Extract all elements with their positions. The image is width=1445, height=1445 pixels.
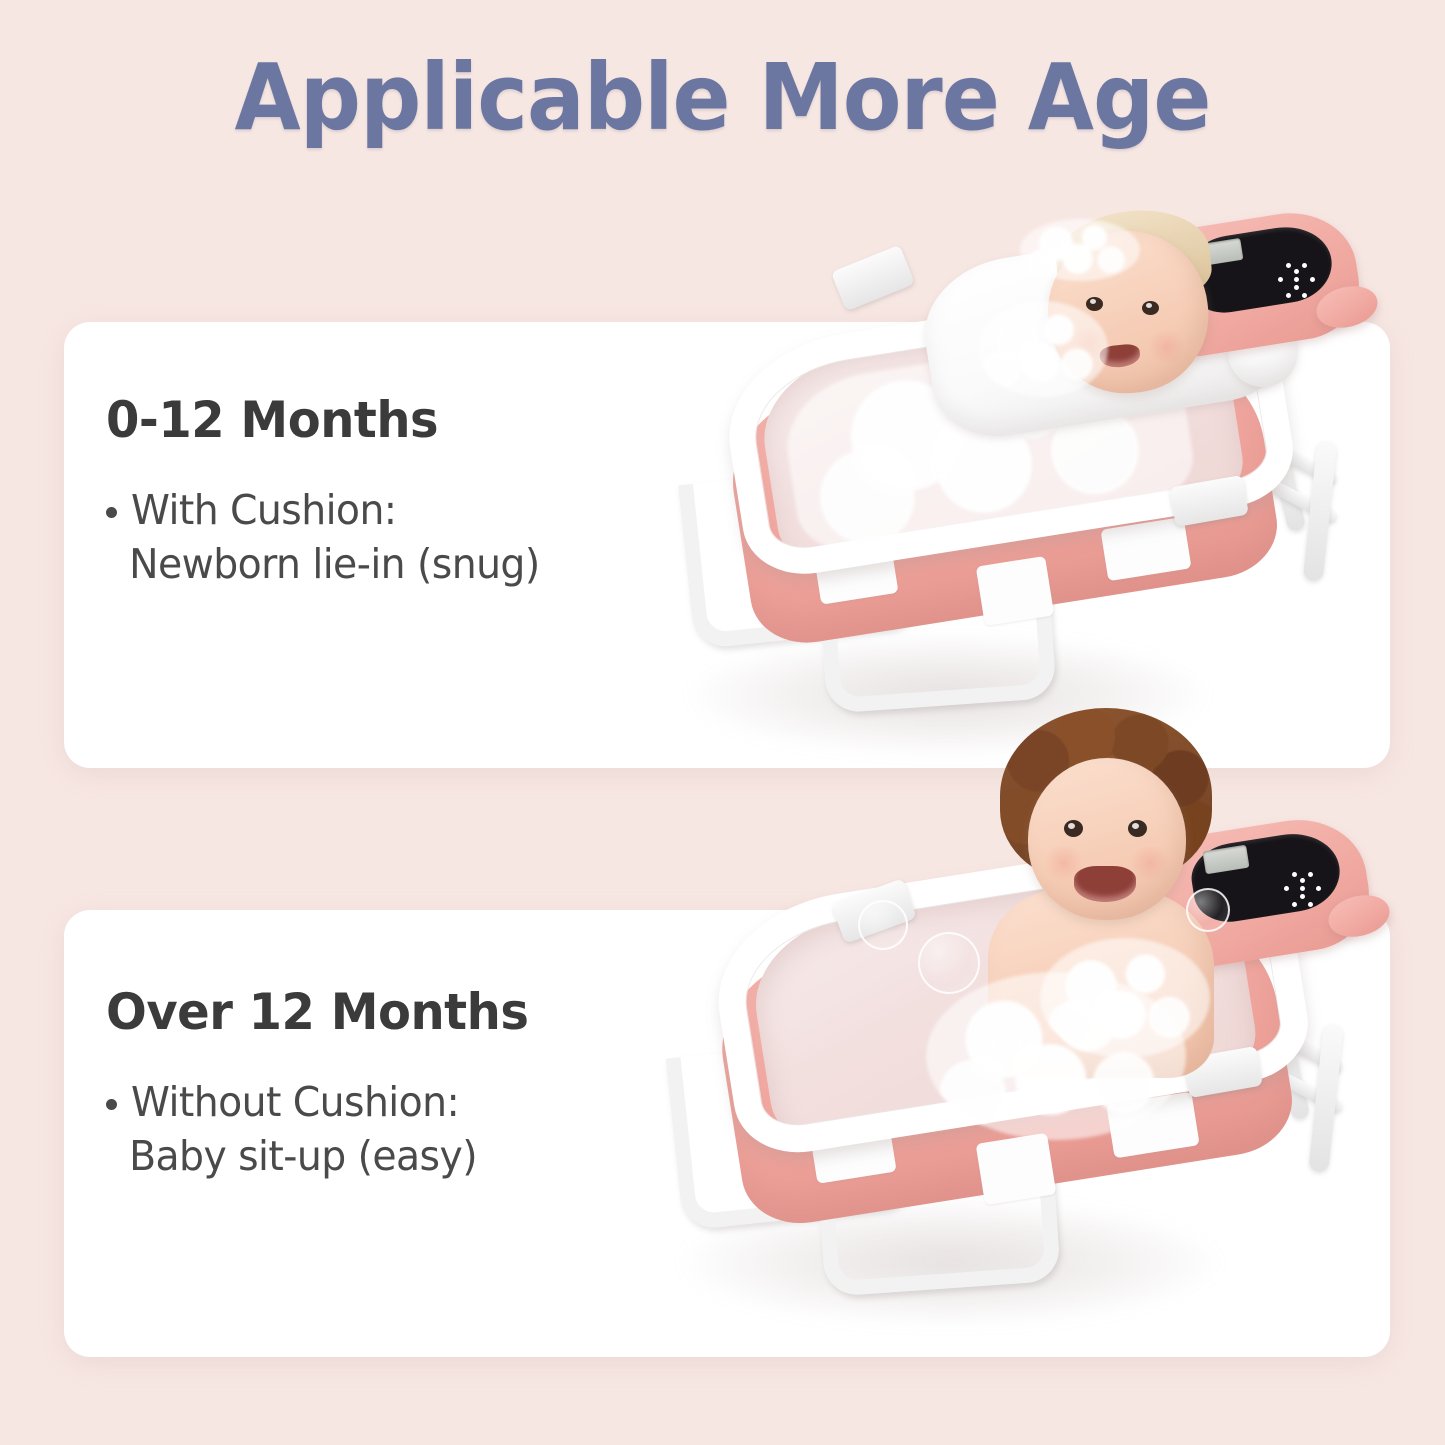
thermometer-dot-icon (1294, 285, 1299, 290)
thermometer-dot-icon (1286, 293, 1291, 298)
card-0-12-months-bullet: With Cushion: Newborn lie-in (snug) (106, 483, 666, 592)
tub-white-patch (976, 556, 1055, 626)
baby-cheek (1146, 331, 1188, 363)
toddler-cheek (1042, 846, 1086, 880)
page-title: Applicable More Age (51, 52, 1395, 144)
card-over-12-months-heading: Over 12 Months (106, 986, 644, 1039)
thermometer-dot-icon (1300, 894, 1305, 899)
toddler-mouth (1074, 866, 1136, 902)
thermometer-dot-icon (1302, 293, 1307, 298)
tub-hinge-clamp (831, 245, 915, 312)
thermometer-dot-icon (1292, 872, 1297, 877)
thermometer-dot-icon (1316, 886, 1321, 891)
thermometer-dot-icon (1286, 263, 1291, 268)
thermometer-dot-icon (1294, 277, 1299, 282)
tub-white-patch (976, 1133, 1057, 1206)
baby-body-suds (978, 301, 1108, 397)
card-0-12-months-text: 0-12 Months With Cushion: Newborn lie-in… (106, 394, 666, 592)
card-over-12-months-bullet-body: Without Cushion: Baby sit-up (easy) (131, 1075, 477, 1184)
baby-eye-highlight (1146, 303, 1152, 308)
baby-head-suds (1020, 219, 1140, 281)
bullet-line-1: With Cushion: (131, 486, 397, 534)
card-0-12-months-bullet-body: With Cushion: Newborn lie-in (snug) (131, 483, 540, 592)
product-image-with-cushion (648, 205, 1408, 785)
thermometer-dot-icon (1300, 886, 1305, 891)
soap-bubble (1186, 888, 1230, 932)
thermometer-dot-icon (1310, 277, 1315, 282)
bullet-line-2: Baby sit-up (easy) (129, 1129, 477, 1184)
thermometer-dot-icon (1302, 263, 1307, 268)
soap-bubble (992, 1030, 1022, 1060)
bullet-dot-icon (106, 507, 117, 518)
card-over-12-months-bullet: Without Cushion: Baby sit-up (easy) (106, 1075, 666, 1184)
infographic-page: Applicable More Age 0-12 Months With Cus… (0, 0, 1445, 1445)
card-0-12-months-heading: 0-12 Months (106, 394, 644, 447)
baby-eye-highlight (1090, 299, 1096, 304)
bath-foam-side (1040, 938, 1210, 1058)
soap-bubble (918, 932, 980, 994)
toddler-cheek (1128, 846, 1172, 880)
thermometer-dot-icon (1284, 886, 1289, 891)
thermometer-dot-icon (1294, 269, 1299, 274)
toddler-eye-highlight (1068, 823, 1075, 829)
soap-bubble (858, 900, 908, 950)
bullet-line-1: Without Cushion: (131, 1078, 459, 1126)
card-over-12-months-text: Over 12 Months Without Cushion: Baby sit… (106, 986, 666, 1184)
thermometer-dot-icon (1308, 902, 1313, 907)
thermometer-dot-icon (1308, 872, 1313, 877)
bullet-line-2: Newborn lie-in (snug) (129, 537, 540, 592)
thermometer-dot-icon (1300, 878, 1305, 883)
product-image-without-cushion (640, 700, 1420, 1340)
toddler-eye-highlight (1132, 823, 1139, 829)
thermometer-dot-icon (1278, 277, 1283, 282)
thermometer-dot-icon (1292, 902, 1297, 907)
bullet-dot-icon (106, 1099, 117, 1110)
